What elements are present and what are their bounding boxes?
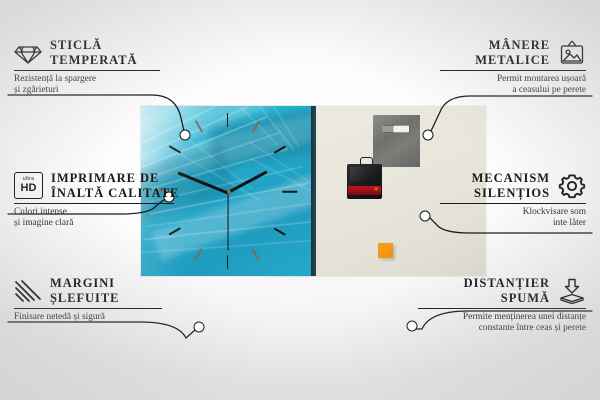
callout-sub-line2: constante între ceas și perete (479, 323, 586, 333)
clock-hub (227, 190, 231, 194)
callout-title-line2: METALICE (475, 53, 550, 67)
mechanism-highlight (350, 167, 378, 181)
callout-sub-line1: Klockvisare som (523, 207, 586, 217)
anchor-distantier-spuma (407, 321, 418, 332)
callout-sub-line2: și imagine clară (14, 218, 73, 228)
battery: + (348, 186, 381, 195)
anchor-manere-metalice (423, 130, 434, 141)
callout-sub-line2: și zgârieturi (14, 85, 59, 95)
callout-sub-line1: Permite menținerea unei distanțe (463, 312, 586, 322)
metal-bracket (382, 125, 410, 133)
callout-title-line1: MECANISM (472, 171, 550, 185)
callout-sub-line2: inte låter (553, 218, 586, 228)
callout-sticla-temperata[interactable]: STICLĂ TEMPERATĂ Rezistență la spargere … (14, 38, 160, 97)
picture-frame-icon (558, 40, 586, 66)
callout-title-line1: DISTANȚIER (464, 276, 550, 290)
callout-title-line1: IMPRIMARE DE (51, 171, 159, 185)
callout-sub-line1: Rezistență la spargere (14, 74, 96, 84)
diamond-icon (14, 41, 42, 65)
callout-imprimare-inalta-calitate[interactable]: ultra HD IMPRIMARE DE ÎNALTĂ CALITATE Cu… (14, 171, 174, 230)
gear-icon (558, 172, 586, 200)
callout-mecanism-silentios[interactable]: MECANISM SILENȚIOS Klockvisare som inte … (440, 171, 586, 230)
battery-plus-icon: + (373, 187, 379, 193)
ultra-hd-icon-bottom: HD (21, 183, 37, 194)
callout-sub-line2: a ceasului pe perete (512, 85, 586, 95)
callout-rule (440, 70, 586, 71)
callout-sub-line1: Finisare netedă și sigură (14, 312, 105, 322)
anchor-mecanism-silentios (420, 211, 431, 222)
callout-title-line1: STICLĂ (50, 38, 102, 52)
callout-title-line2: TEMPERATĂ (50, 53, 138, 67)
callout-title-line1: MARGINI (50, 276, 115, 290)
callout-title-line2: ȘLEFUITE (50, 291, 119, 305)
callout-title-line2: SPUMĂ (501, 291, 550, 305)
callout-distantier-spuma[interactable]: DISTANȚIER SPUMĂ Permite menținerea unei… (418, 276, 586, 335)
press-down-icon (558, 278, 586, 304)
callout-rule (418, 308, 586, 309)
anchor-sticla-temperata (180, 130, 191, 141)
second-hand (227, 193, 228, 251)
callout-manere-metalice[interactable]: MÂNERE METALICE Permit montarea ușoară a… (440, 38, 586, 97)
callout-rule (14, 70, 160, 71)
metal-hanger-swatch (373, 115, 420, 167)
callout-rule (14, 308, 162, 309)
callout-rule (440, 203, 586, 204)
anchor-margini (194, 322, 205, 333)
callout-title-line1: MÂNERE (489, 38, 550, 52)
sanded-edge-icon (14, 279, 42, 303)
callout-sub-line1: Culori intense (14, 207, 67, 217)
ultra-hd-icon: ultra HD (14, 172, 43, 199)
callout-sub-line1: Permit montarea ușoară (497, 74, 586, 84)
foam-spacer (378, 243, 393, 258)
infographic-canvas: + (0, 0, 600, 400)
callout-margini-slefuite[interactable]: MARGINI ȘLEFUITE Finisare netedă și sigu… (14, 276, 162, 323)
callout-title-line2: SILENȚIOS (474, 186, 550, 200)
callout-rule (14, 203, 174, 204)
callout-title-line2: ÎNALTĂ CALITATE (51, 186, 179, 200)
product-image: + (141, 106, 486, 276)
